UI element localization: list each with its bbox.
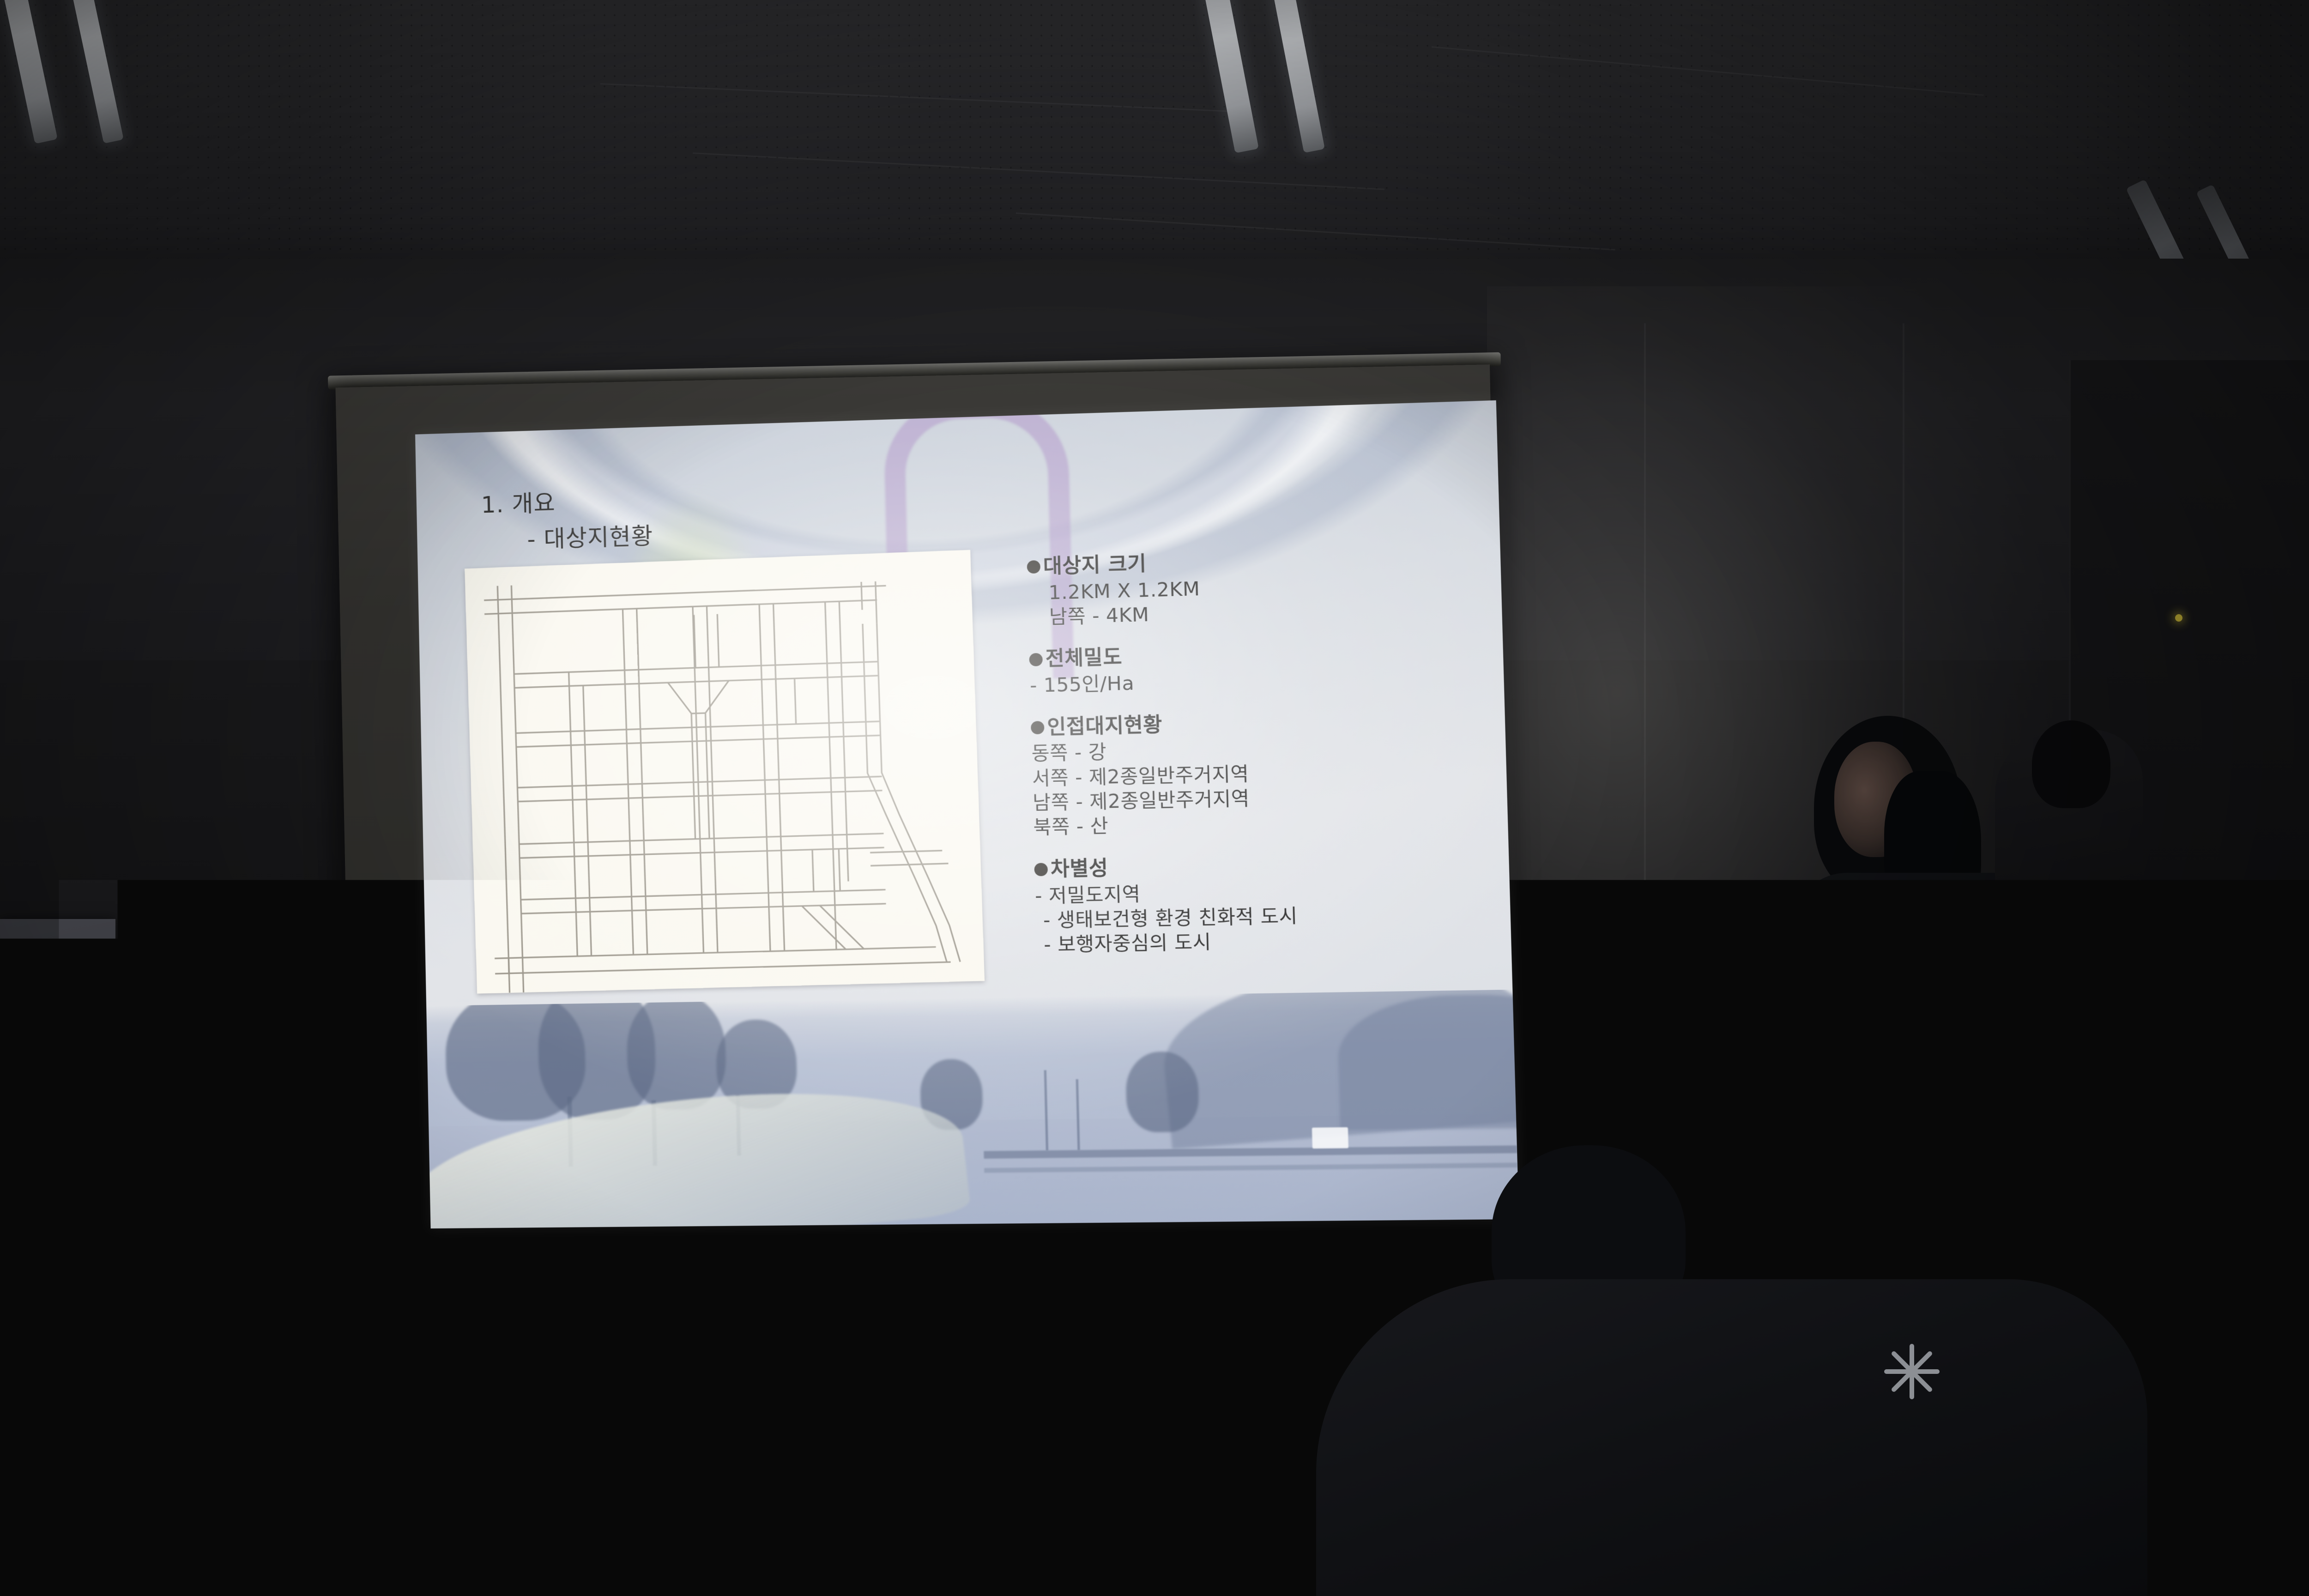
bullet-heading-text: 대상지 크기 [1043, 552, 1147, 579]
bullet-group-density: 전체밀도 - 155인/Ha [1029, 636, 1484, 697]
stool-seat [14, 1335, 166, 1367]
slide-title: 1. 개요 [481, 484, 556, 520]
projected-slide: 1. 개요 - 대상지현황 [415, 400, 1519, 1228]
bullet-dot-icon [1027, 560, 1041, 574]
bullet-group-site-size: 대상지 크기 1.2KM X 1.2KM 남쪽 - 4KM [1027, 543, 1482, 629]
bullet-dot-icon [1034, 863, 1048, 877]
paper-on-table [840, 1549, 1127, 1596]
site-plan-map [465, 550, 985, 994]
bullet-heading-text: 차별성 [1050, 857, 1108, 882]
photo-tree [626, 992, 727, 1110]
site-plan-svg [465, 550, 985, 994]
snowflake-graphic-icon [1884, 1344, 1940, 1399]
bullet-group-adjacent-land: 인접대지현황 동쪽 - 강 서쪽 - 제2종일반주거지역 남쪽 - 제2종일반주… [1031, 706, 1488, 839]
laptop-screen [0, 1191, 102, 1307]
ceiling-acoustic-tile-texture [0, 0, 2309, 296]
photo-tree [1125, 1051, 1199, 1132]
bullet-heading-text: 인접대지현황 [1047, 713, 1163, 739]
bullet-dot-icon [1029, 653, 1043, 666]
audience-person-right-head [2032, 720, 2110, 808]
bullet-group-differentiation: 차별성 - 저밀도지역 - 생태보건형 환경 친화적 도시 - 보행자중심의 도… [1034, 849, 1492, 956]
chair[interactable] [1291, 1429, 1572, 1596]
slide-bullet-column: 대상지 크기 1.2KM X 1.2KM 남쪽 - 4KM 전체밀도 - 155… [1027, 543, 1492, 975]
wall-panel-seam [1644, 323, 1646, 1201]
screenshot-root: 1. 개요 - 대상지현황 [0, 0, 2309, 1596]
chair-handle-cutout [189, 1501, 245, 1556]
presenter-hoodie-text [1875, 1007, 2000, 1036]
slide-subtitle: - 대상지현황 [527, 518, 653, 555]
indicator-led [2175, 614, 2182, 622]
bullet-heading-text: 전체밀도 [1045, 646, 1122, 671]
bullet-dot-icon [1031, 721, 1045, 734]
chair-handle-cutout [859, 1501, 914, 1556]
presenter-hand [1822, 974, 1858, 1011]
bullet-heading-differentiation: 차별성 [1034, 849, 1490, 882]
